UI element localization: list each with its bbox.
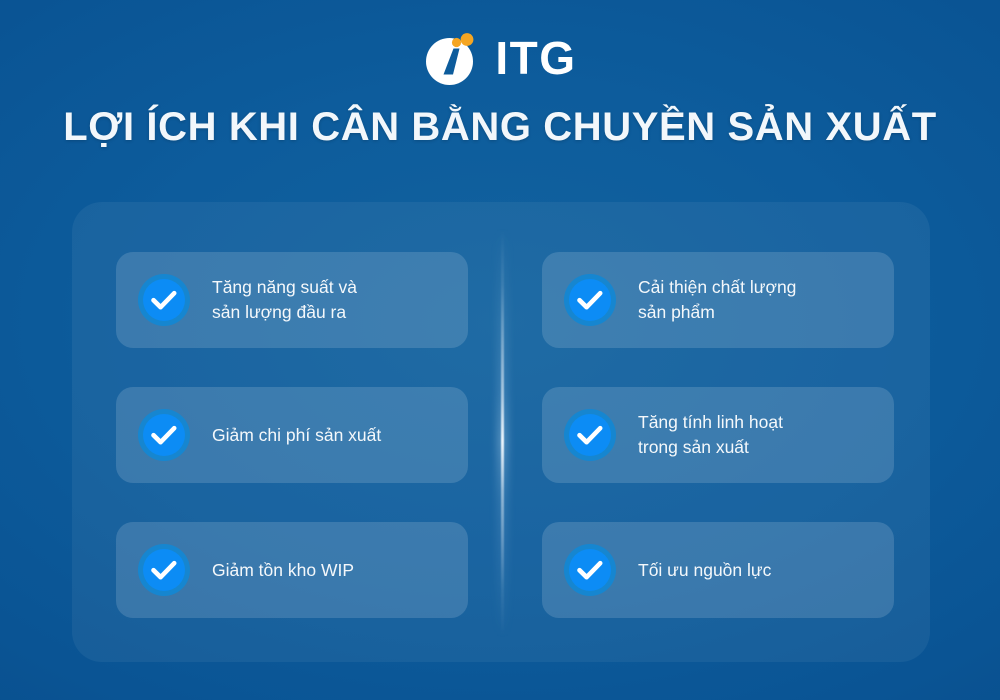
check-icon bbox=[564, 409, 616, 461]
brand-logo: ITG bbox=[0, 26, 1000, 90]
page-title: LỢI ÍCH KHI CÂN BẰNG CHUYỀN SẢN XUẤT bbox=[0, 104, 1000, 150]
benefit-card: Tối ưu nguồn lực bbox=[542, 522, 894, 618]
benefit-label: Tăng tính linh hoạt trong sản xuất bbox=[638, 410, 783, 460]
benefit-card: Tăng tính linh hoạt trong sản xuất bbox=[542, 387, 894, 483]
benefit-card: Giảm tồn kho WIP bbox=[116, 522, 468, 618]
benefit-card: Cải thiện chất lượng sản phẩm bbox=[542, 252, 894, 348]
benefit-label: Giảm tồn kho WIP bbox=[212, 558, 354, 583]
check-icon bbox=[138, 544, 190, 596]
itg-logo-icon bbox=[423, 29, 481, 87]
check-icon bbox=[138, 274, 190, 326]
infographic-root: ITG LỢI ÍCH KHI CÂN BẰNG CHUYỀN SẢN XUẤT… bbox=[0, 0, 1000, 700]
benefit-label: Cải thiện chất lượng sản phẩm bbox=[638, 275, 796, 325]
benefit-card: Tăng năng suất và sản lượng đầu ra bbox=[116, 252, 468, 348]
header: ITG LỢI ÍCH KHI CÂN BẰNG CHUYỀN SẢN XUẤT bbox=[0, 0, 1000, 190]
check-icon bbox=[138, 409, 190, 461]
benefit-label: Giảm chi phí sản xuất bbox=[212, 423, 381, 448]
benefits-grid: Tăng năng suất và sản lượng đầu ra Cải t… bbox=[116, 252, 894, 618]
benefit-card: Giảm chi phí sản xuất bbox=[116, 387, 468, 483]
benefit-label: Tăng năng suất và sản lượng đầu ra bbox=[212, 275, 357, 325]
brand-wordmark: ITG bbox=[495, 35, 576, 81]
benefit-label: Tối ưu nguồn lực bbox=[638, 558, 771, 583]
check-icon bbox=[564, 544, 616, 596]
check-icon bbox=[564, 274, 616, 326]
